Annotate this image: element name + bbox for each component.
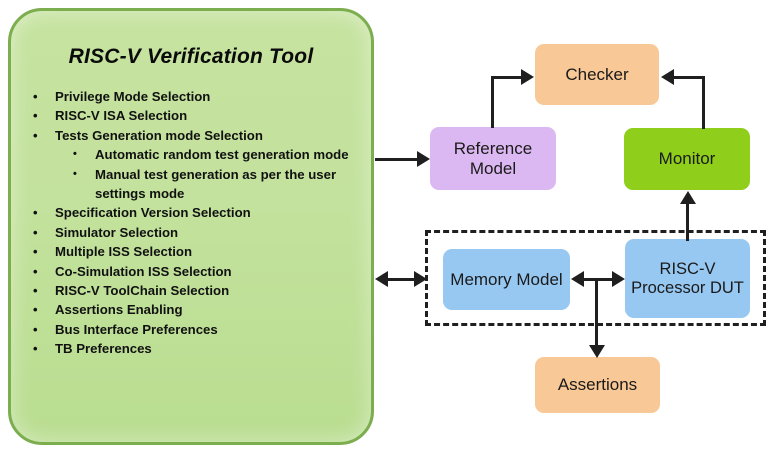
node-monitor-label: Monitor (659, 149, 716, 169)
list-item-label: Multiple ISS Selection (55, 242, 357, 261)
bullet-icon: • (33, 320, 55, 339)
bullet-icon: • (33, 126, 55, 145)
list-item-label: RISC-V ISA Selection (55, 106, 357, 125)
sub-list-item-label: Manual test generation as per the user s… (95, 165, 357, 204)
arrowhead-left-to-memory-model (571, 271, 584, 287)
list-item-label: Assertions Enabling (55, 300, 357, 319)
node-risc-v-processor-dut-label: RISC-V Processor DUT (629, 260, 746, 298)
arrowhead-up-to-monitor (680, 191, 696, 204)
node-memory-model[interactable]: Memory Model (443, 249, 570, 310)
list-item-label: Co-Simulation ISS Selection (55, 262, 357, 281)
node-memory-model-label: Memory Model (450, 270, 562, 290)
node-assertions[interactable]: Assertions (535, 357, 660, 413)
bullet-icon: • (33, 203, 55, 222)
bullet-icon: • (33, 339, 55, 358)
tool-feature-list: • Privilege Mode Selection • RISC-V ISA … (33, 87, 357, 359)
list-item: • Simulator Selection (33, 223, 357, 242)
bullet-icon: • (33, 281, 55, 300)
risc-v-verification-tool-panel: RISC-V Verification Tool • Privilege Mod… (8, 8, 374, 445)
arrowhead-left-to-tool-panel (375, 271, 388, 287)
edge-monitor-to-checker (673, 76, 705, 79)
node-reference-model[interactable]: Reference Model (430, 127, 556, 190)
list-item-label: Specification Version Selection (55, 203, 357, 222)
list-item: • Tests Generation mode Selection (33, 126, 357, 145)
list-item: • TB Preferences (33, 339, 357, 358)
list-item: • Co-Simulation ISS Selection (33, 262, 357, 281)
list-item: • RISC-V ISA Selection (33, 106, 357, 125)
diagram-canvas: RISC-V Verification Tool • Privilege Mod… (0, 0, 772, 458)
node-assertions-label: Assertions (558, 375, 637, 395)
edge-dut-to-monitor (686, 203, 689, 241)
list-item-label: Bus Interface Preferences (55, 320, 357, 339)
list-item: • Specification Version Selection (33, 203, 357, 222)
list-item-label: RISC-V ToolChain Selection (55, 281, 357, 300)
node-checker[interactable]: Checker (535, 44, 659, 105)
node-checker-label: Checker (565, 65, 628, 85)
node-reference-model-label: Reference Model (434, 139, 552, 179)
arrowhead-right-to-dut (612, 271, 625, 287)
list-item: • Privilege Mode Selection (33, 87, 357, 106)
arrowhead-left-to-checker (661, 69, 674, 85)
list-item-label: Privilege Mode Selection (55, 87, 357, 106)
sub-list-item: • Automatic random test generation mode (33, 145, 357, 164)
edge-reference-model-to-checker (491, 76, 523, 79)
tool-panel-title: RISC-V Verification Tool (11, 45, 371, 69)
bullet-icon: • (33, 300, 55, 319)
sub-list-item: • Manual test generation as per the user… (33, 165, 357, 204)
bullet-icon: • (33, 262, 55, 281)
sub-list-item-label: Automatic random test generation mode (95, 145, 357, 164)
list-item-label: Simulator Selection (55, 223, 357, 242)
list-item: • Multiple ISS Selection (33, 242, 357, 261)
edge-tool-to-reference-model (375, 158, 419, 161)
node-monitor[interactable]: Monitor (624, 128, 750, 190)
edge-monitor-up (702, 76, 705, 129)
node-risc-v-processor-dut[interactable]: RISC-V Processor DUT (625, 239, 750, 318)
arrowhead-right-to-dut-environment (414, 271, 427, 287)
bullet-icon: • (33, 87, 55, 106)
arrowhead-right-to-reference-model (417, 151, 430, 167)
bullet-icon: • (33, 242, 55, 261)
bullet-icon: • (33, 223, 55, 242)
bullet-icon: • (33, 106, 55, 125)
arrowhead-down-to-assertions (589, 345, 605, 358)
list-item: • Assertions Enabling (33, 300, 357, 319)
list-item: • RISC-V ToolChain Selection (33, 281, 357, 300)
edge-bus-to-assertions (595, 278, 598, 347)
arrowhead-right-to-checker (521, 69, 534, 85)
edge-reference-model-up (491, 76, 494, 128)
list-item-label: Tests Generation mode Selection (55, 126, 357, 145)
sub-bullet-icon: • (73, 165, 95, 184)
list-item-label: TB Preferences (55, 339, 357, 358)
sub-bullet-icon: • (73, 145, 95, 164)
list-item: • Bus Interface Preferences (33, 320, 357, 339)
